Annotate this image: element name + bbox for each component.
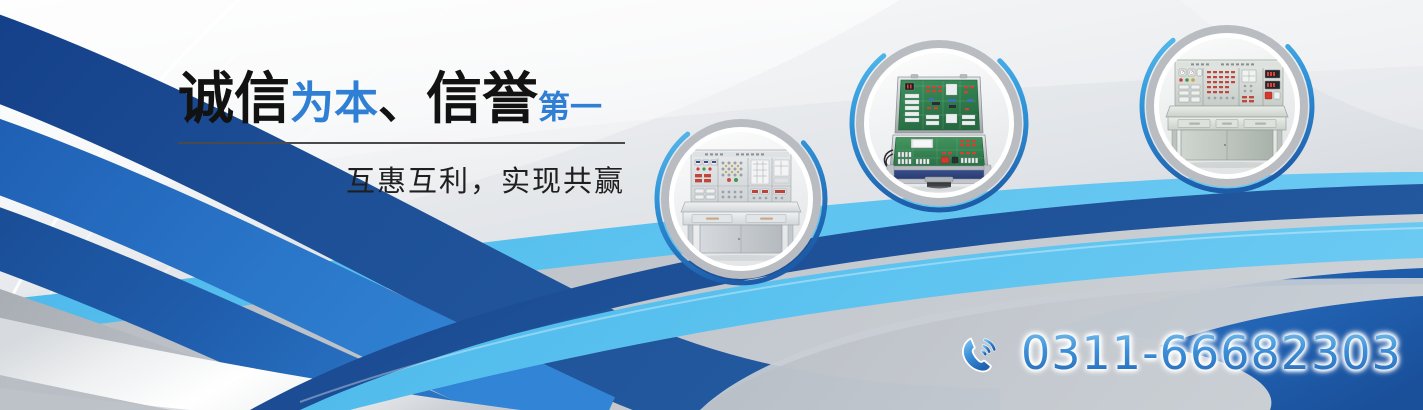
headline-segment-5: 第一: [538, 88, 602, 126]
slogan-divider: [178, 142, 625, 144]
contact-phone-block[interactable]: 0311-66682303: [955, 326, 1402, 380]
promotional-banner: 诚信为本、信誉第一 互惠互利，实现共赢: [0, 0, 1423, 410]
slogan-block: 诚信为本、信誉第一 互惠互利，实现共赢: [178, 72, 628, 200]
page-title: 诚信为本、信誉第一: [178, 72, 628, 128]
product-image-3: [1159, 38, 1295, 174]
slogan-subtitle: 互惠互利，实现共赢: [178, 158, 625, 200]
headline-separator: 、: [378, 74, 426, 130]
product-circle-2[interactable]: [849, 33, 1029, 213]
headline-segment-2: 为本: [290, 78, 378, 129]
product-circle-3[interactable]: [1139, 18, 1315, 194]
headline-segment-1: 诚信: [178, 67, 290, 132]
headline-segment-4: 信誉: [426, 67, 538, 132]
product-image-2: [869, 53, 1009, 193]
phone-icon: [955, 327, 1007, 379]
phone-number[interactable]: 0311-66682303: [1021, 326, 1402, 380]
product-circle-1[interactable]: [654, 112, 828, 286]
product-image-1: [674, 132, 808, 266]
